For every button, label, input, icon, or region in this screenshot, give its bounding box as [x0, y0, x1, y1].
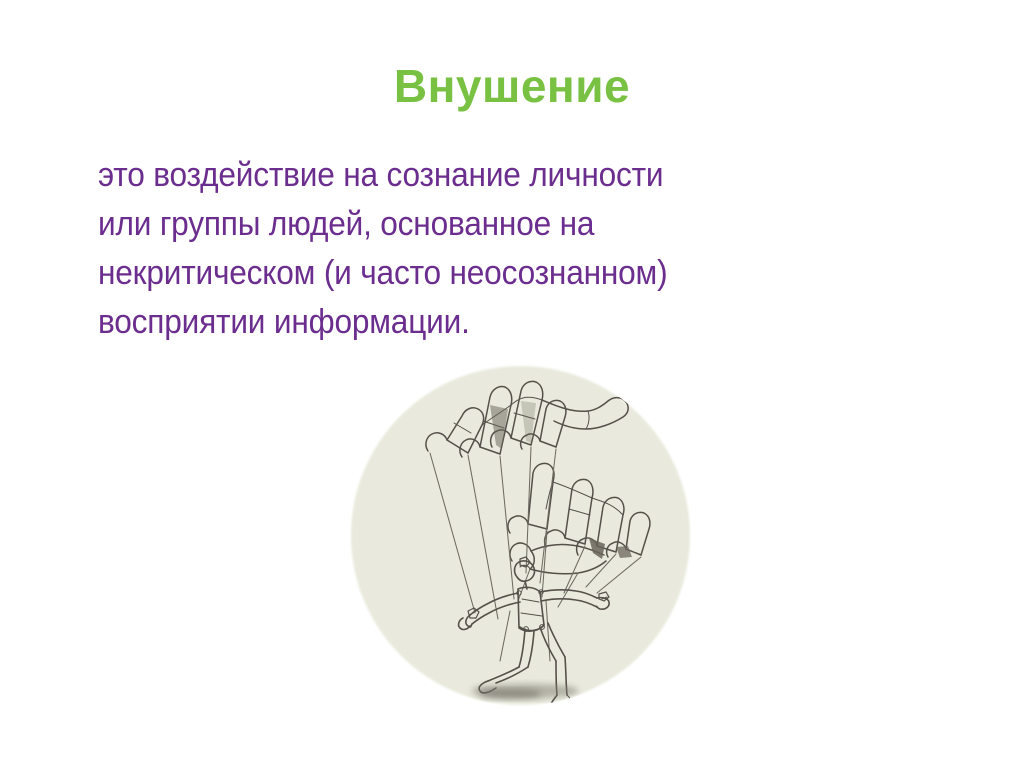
- body-text-block: это воздействие на сознание личности или…: [98, 151, 918, 347]
- body-line-1: это воздействие на сознание личности: [98, 151, 861, 200]
- page-title: Внушение: [0, 62, 1024, 110]
- slide-canvas: Внушение это воздействие на сознание лич…: [0, 0, 1024, 767]
- body-line-3: некритическом (и часто неосознанном): [98, 249, 861, 298]
- illustration-circle-background: [351, 366, 690, 705]
- body-line-4: восприятии информации.: [98, 298, 861, 347]
- puppet-master-illustration: [350, 361, 691, 710]
- body-line-2: или группы людей, основанное на: [98, 200, 861, 249]
